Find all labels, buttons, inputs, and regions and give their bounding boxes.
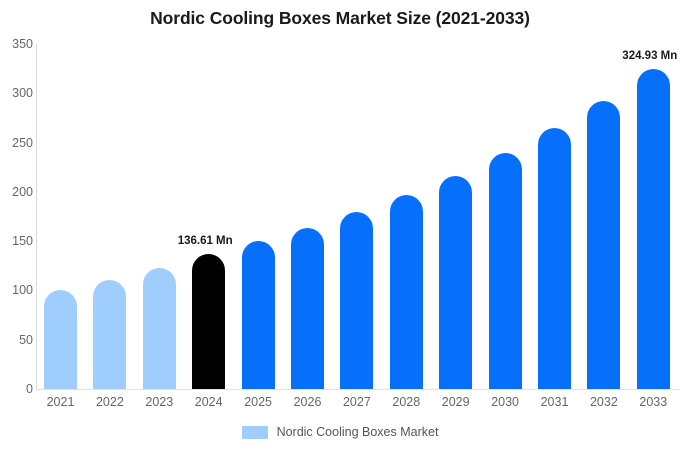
bar[interactable]	[390, 195, 423, 389]
bar[interactable]	[587, 101, 620, 389]
bar[interactable]	[538, 128, 571, 389]
x-axis-tick-label: 2032	[579, 395, 629, 409]
y-axis: 050100150200250300350	[0, 0, 33, 450]
x-axis-tick-label: 2021	[36, 395, 86, 409]
legend-swatch	[242, 426, 268, 439]
y-axis-tick-label: 100	[3, 283, 33, 297]
y-axis-tick-label: 150	[3, 234, 33, 248]
bar[interactable]	[439, 176, 472, 389]
plot-area	[36, 44, 680, 389]
bar[interactable]	[93, 280, 126, 389]
y-axis-tick-label: 0	[3, 382, 33, 396]
legend-label[interactable]: Nordic Cooling Boxes Market	[277, 425, 439, 439]
x-axis-tick-label: 2030	[480, 395, 530, 409]
y-axis-tick-label: 300	[3, 86, 33, 100]
bar[interactable]	[489, 153, 522, 389]
chart-legend: Nordic Cooling Boxes Market	[0, 425, 680, 439]
x-axis-tick-label: 2026	[283, 395, 333, 409]
x-axis-tick-label: 2033	[628, 395, 678, 409]
bar[interactable]	[143, 268, 176, 389]
x-axis-tick-label: 2022	[85, 395, 135, 409]
x-axis-tick-label: 2025	[233, 395, 283, 409]
x-axis-tick-label: 2027	[332, 395, 382, 409]
x-axis-tick-label: 2023	[134, 395, 184, 409]
chart-title: Nordic Cooling Boxes Market Size (2021-2…	[0, 8, 680, 29]
bar[interactable]	[340, 212, 373, 389]
bar-value-label: 324.93 Mn	[622, 50, 677, 62]
y-axis-tick-label: 250	[3, 136, 33, 150]
x-axis-line	[36, 389, 680, 390]
x-axis-tick-label: 2024	[184, 395, 234, 409]
bar-chart: Nordic Cooling Boxes Market Size (2021-2…	[0, 0, 680, 450]
x-axis-tick-label: 2031	[530, 395, 580, 409]
bar[interactable]	[44, 290, 77, 389]
y-axis-tick-label: 50	[3, 333, 33, 347]
bar-value-label: 136.61 Mn	[178, 235, 233, 247]
x-axis-tick-label: 2028	[381, 395, 431, 409]
y-axis-tick-label: 200	[3, 185, 33, 199]
x-axis-tick-label: 2029	[431, 395, 481, 409]
bar[interactable]	[291, 228, 324, 389]
bar[interactable]	[637, 69, 670, 389]
bar[interactable]	[242, 241, 275, 389]
y-axis-tick-label: 350	[3, 37, 33, 51]
bar[interactable]	[192, 254, 225, 389]
